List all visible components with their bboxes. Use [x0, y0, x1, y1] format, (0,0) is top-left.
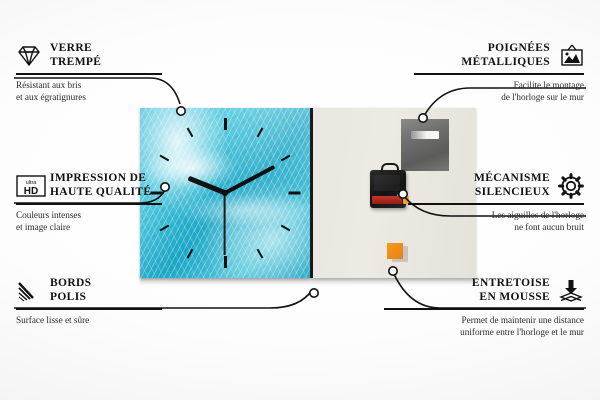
infographic-canvas: VERRE TREMPÉ Résistant aux bris et aux é… — [0, 0, 600, 400]
clock-tick — [160, 155, 170, 162]
feature-sub-line2: de l'horloge sur le mur — [501, 92, 584, 102]
feature-sub-line1: Facilite le montage — [514, 80, 584, 90]
clock-tick — [281, 225, 291, 232]
anchor-bords-polis — [310, 289, 318, 297]
clock-hour-hand — [187, 176, 226, 196]
feature-sub-line1: Surface lisse et sûre — [16, 315, 89, 325]
clock-tick — [187, 128, 194, 138]
feature-title-line1: ENTRETOISE — [472, 277, 550, 289]
feature-verre-trempe: VERRE TREMPÉ Résistant aux bris et aux é… — [16, 42, 162, 103]
diamond-icon — [16, 43, 42, 69]
mechanism-hanging-loop — [381, 163, 399, 174]
feature-sub-line1: Permet de maintenir une distance — [462, 315, 584, 325]
divider — [408, 203, 584, 205]
feature-bords-polis: BORDS POLIS Surface lisse et sûre — [16, 277, 162, 326]
feature-sub-line1: Résistant aux bris — [16, 80, 81, 90]
clock-face — [140, 108, 310, 278]
metal-handle-plate — [401, 119, 449, 171]
feature-title-line2: SILENCIEUX — [475, 186, 550, 198]
polished-edges-icon — [16, 278, 42, 304]
wall-mount-picture-icon — [558, 43, 584, 69]
clock-tick — [281, 155, 291, 162]
feature-poignees-metalliques: POIGNÉES MÉTALLIQUES Facilite le montage… — [414, 42, 584, 103]
feature-sub-line2: ne font aucun bruit — [514, 222, 584, 232]
feature-sub-line2: et aux égratignures — [16, 92, 86, 102]
foam-spacer-pad — [387, 243, 403, 259]
feature-title-line2: MÉTALLIQUES — [461, 56, 550, 68]
ultra-hd-icon: ultra HD — [16, 173, 42, 199]
feature-title-line1: BORDS — [50, 277, 91, 289]
feature-sub-line1: Couleurs intenses — [16, 210, 81, 220]
feature-title-line2: POLIS — [50, 291, 86, 303]
clock-center-cap — [222, 190, 228, 196]
mechanism-body-detail — [374, 175, 400, 191]
clock-minute-hand — [224, 165, 275, 195]
clock-tick — [224, 256, 227, 268]
feature-impression-hd: ultra HD IMPRESSION DE HAUTE QUALITÉ Cou… — [16, 172, 162, 233]
divider — [384, 308, 584, 310]
clock-tick — [187, 249, 194, 259]
clock-tick — [224, 118, 227, 130]
feature-title-line2: HAUTE QUALITÉ — [50, 186, 151, 198]
mechanism-battery — [372, 196, 402, 204]
feature-sub-line1: Les aiguilles de l'horloge — [492, 210, 584, 220]
feature-mecanisme-silencieux: MÉCANISME SILENCIEUX Les aiguilles de l'… — [408, 172, 584, 233]
clock-mechanism-box — [370, 170, 406, 208]
feature-sub-line2: uniforme entre l'horloge et le mur — [460, 327, 584, 337]
divider — [414, 73, 584, 75]
feature-title-line2: EN MOUSSE — [479, 291, 550, 303]
clock-tick — [288, 192, 300, 195]
feature-title-line1: VERRE — [50, 42, 92, 54]
clock-tick — [257, 128, 264, 138]
feature-title-line2: TREMPÉ — [50, 56, 101, 68]
feature-entretoise-en-mousse: ENTRETOISE EN MOUSSE Permet de maintenir… — [384, 277, 584, 338]
feature-sub-line2: et image claire — [16, 222, 70, 232]
feature-title-line1: POIGNÉES — [488, 42, 550, 54]
foam-spacer-icon — [558, 278, 584, 304]
ultra-hd-icon-big-text: HD — [24, 186, 38, 197]
divider — [16, 203, 162, 205]
gear-icon — [558, 173, 584, 199]
feature-title-line1: MÉCANISME — [474, 172, 550, 184]
clock-second-hand — [224, 193, 226, 255]
clock-tick — [257, 249, 264, 259]
feature-title-line1: IMPRESSION DE — [50, 172, 146, 184]
handle-slot — [411, 131, 439, 139]
divider — [16, 73, 162, 75]
divider — [16, 308, 162, 310]
